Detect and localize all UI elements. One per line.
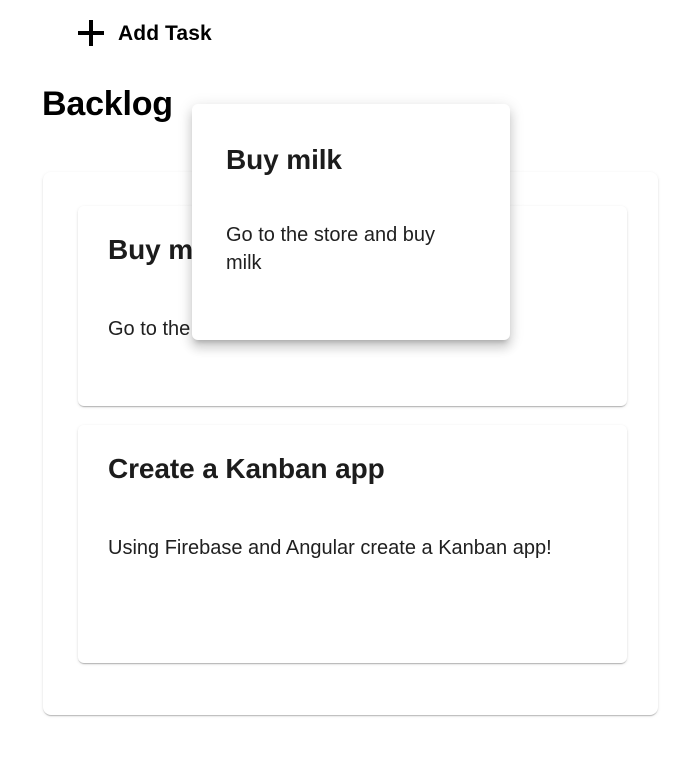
drag-preview-card[interactable]: Buy milk Go to the store and buy milk bbox=[192, 104, 510, 340]
plus-icon bbox=[78, 20, 104, 46]
task-card[interactable]: Create a Kanban app Using Firebase and A… bbox=[78, 425, 627, 663]
drag-preview-title: Buy milk bbox=[226, 142, 476, 177]
add-task-button[interactable]: Add Task bbox=[78, 20, 212, 46]
drag-preview-description: Go to the store and buy milk bbox=[226, 221, 476, 278]
task-card-title: Create a Kanban app bbox=[108, 451, 597, 486]
task-card-description: Using Firebase and Angular create a Kanb… bbox=[108, 534, 597, 562]
column-title: Backlog bbox=[42, 84, 173, 125]
add-task-label: Add Task bbox=[118, 23, 212, 44]
